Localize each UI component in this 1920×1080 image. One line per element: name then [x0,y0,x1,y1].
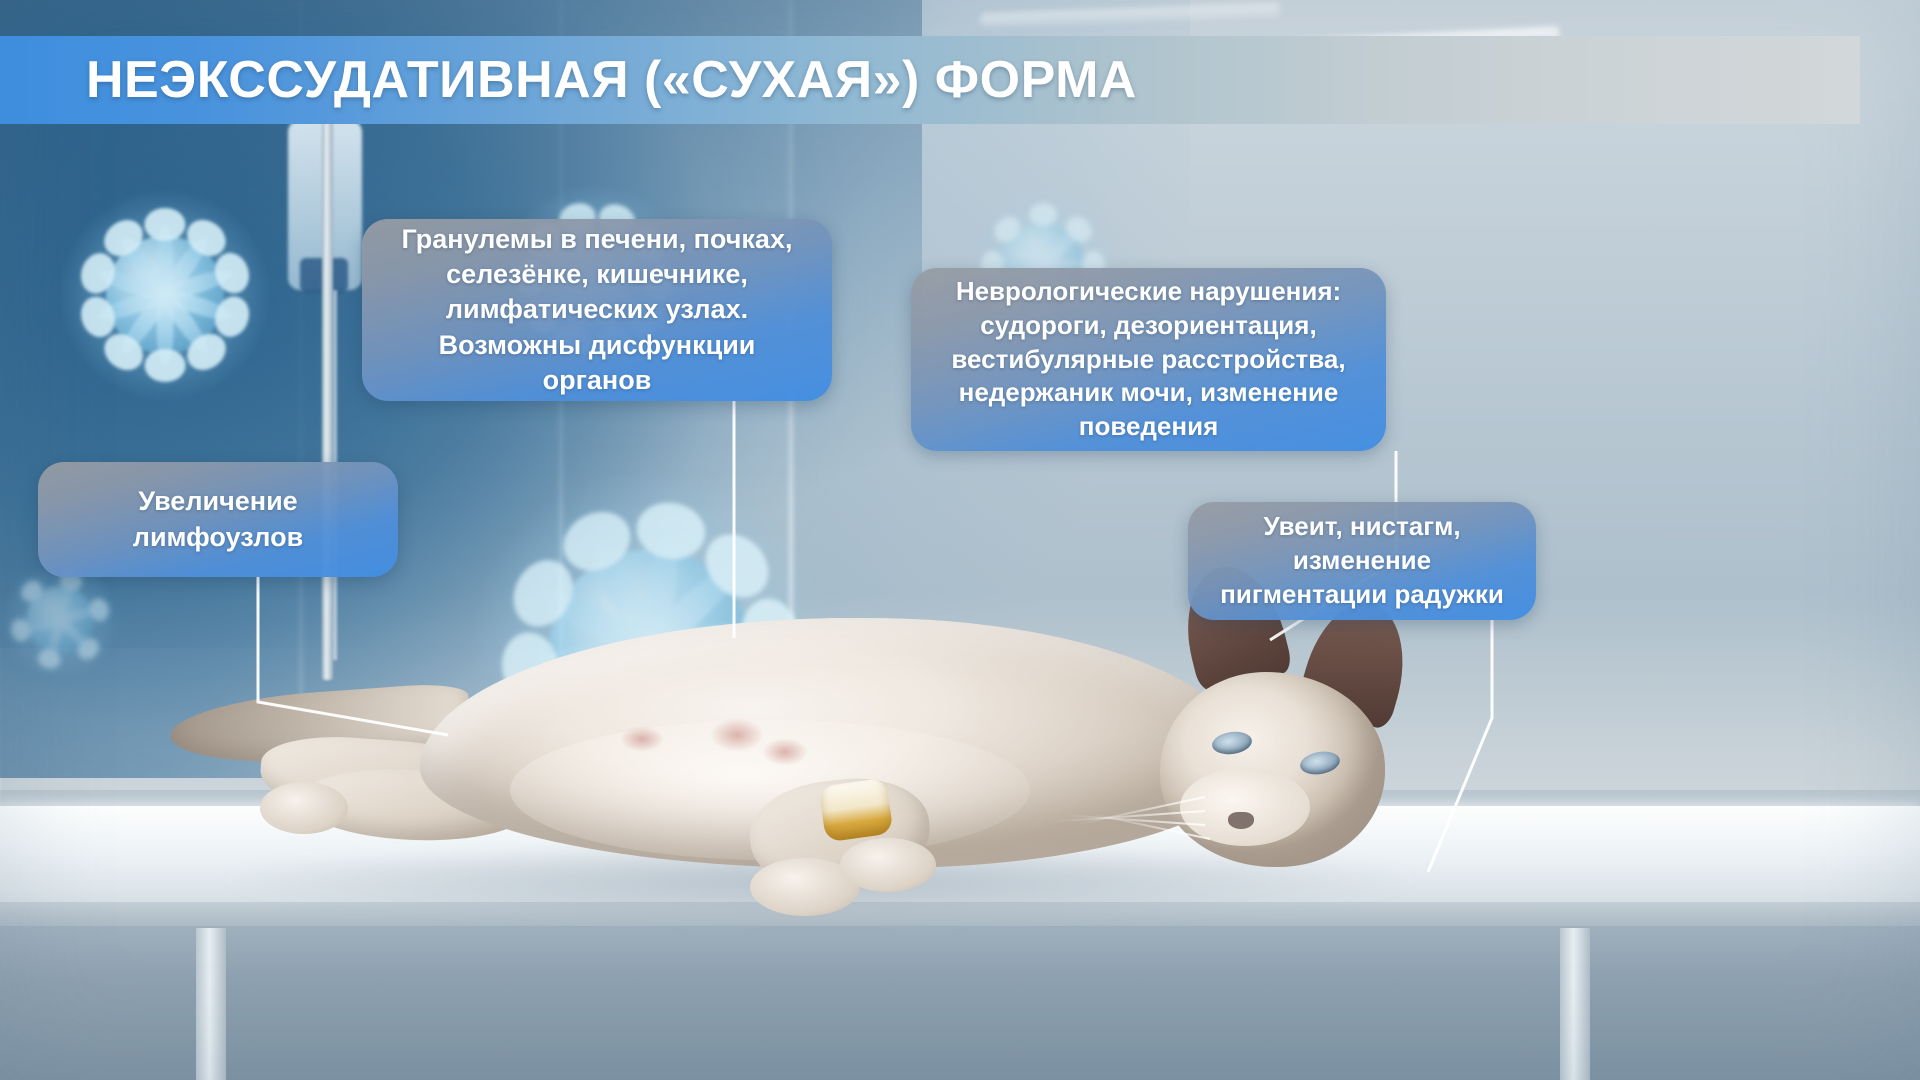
iv-catheter-bandage [818,778,893,843]
slide-canvas: НЕЭКССУДАТИВНАЯ («СУХАЯ») ФОРМА Гранулем… [0,0,1920,1080]
callout-granuloma[interactable]: Гранулемы в печени, почках, селезёнке, к… [362,219,832,401]
callout-uveitis[interactable]: Увеит, нистагм, изменение пигментации ра… [1188,502,1536,620]
title-bar: НЕЭКССУДАТИВНАЯ («СУХАЯ») ФОРМА [0,36,1860,124]
cat-skin-spot [620,726,664,752]
slide-title: НЕЭКССУДАТИВНАЯ («СУХАЯ») ФОРМА [86,50,1137,110]
cat-paw [260,782,348,834]
cat-skin-spot [762,738,808,766]
table-leg [1560,928,1590,1080]
table-leg [196,928,226,1080]
cat-paw [840,838,936,892]
virus-particle-icon [60,190,270,400]
cat-skin-spot [710,718,764,752]
callout-neurological[interactable]: Неврологические нарушения: судороги, дез… [911,268,1386,451]
virus-particle-icon [0,560,120,680]
cat-photo [150,600,1550,930]
cat-nose [1228,812,1254,829]
cat-muzzle [1180,768,1310,846]
exam-table-underside [0,926,1920,1080]
callout-lymph-nodes[interactable]: Увеличение лимфоузлов [38,462,398,577]
iv-pole [322,120,333,680]
